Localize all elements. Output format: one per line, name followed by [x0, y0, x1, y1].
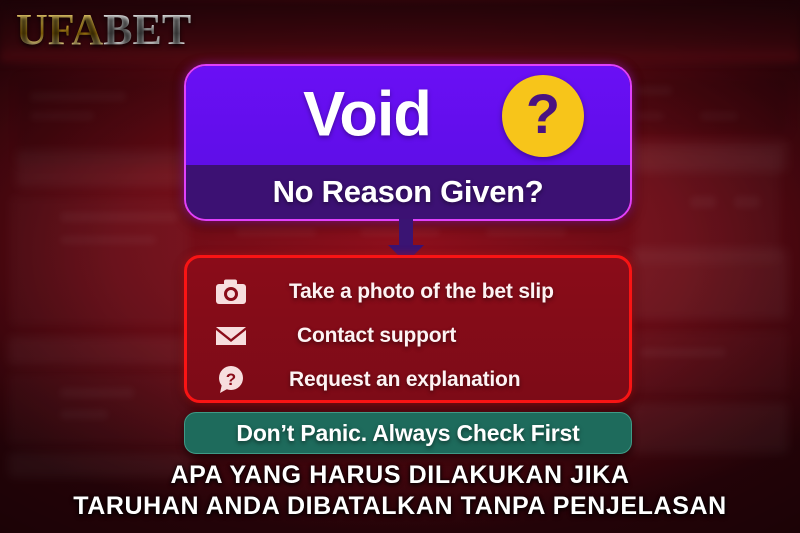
list-item-label: Take a photo of the bet slip: [289, 280, 554, 304]
question-mark-badge-icon: ?: [502, 75, 584, 157]
list-item[interactable]: Take a photo of the bet slip: [187, 270, 629, 314]
caption-line-1: APA YANG HARUS DILAKUKAN JIKA: [0, 460, 800, 491]
list-item-label: Contact support: [297, 324, 456, 348]
question-bubble-icon: ?: [211, 365, 251, 395]
void-card-bottom: No Reason Given?: [186, 165, 630, 219]
list-item[interactable]: ? Request an explanation: [187, 358, 629, 402]
camera-icon: [211, 277, 251, 307]
caption-block: APA YANG HARUS DILAKUKAN JIKA TARUHAN AN…: [0, 460, 800, 522]
void-card: Void ? No Reason Given?: [184, 64, 632, 221]
logo-text-bet: BET: [103, 5, 191, 54]
caption-line-2: TARUHAN ANDA DIBATALKAN TANPA PENJELASAN: [0, 491, 800, 522]
banner-label: Don’t Panic. Always Check First: [236, 420, 579, 447]
ufabet-logo: UFABET: [16, 8, 191, 52]
list-item[interactable]: Contact support: [187, 314, 629, 358]
reassurance-banner: Don’t Panic. Always Check First: [184, 412, 632, 454]
action-list-card: Take a photo of the bet slip Contact sup…: [184, 255, 632, 403]
logo-text-ufa: UFA: [16, 5, 103, 54]
svg-text:?: ?: [226, 370, 236, 389]
question-mark-glyph: ?: [526, 86, 560, 142]
list-item-label: Request an explanation: [289, 368, 520, 392]
envelope-icon: [211, 321, 251, 351]
void-card-top: Void ?: [186, 66, 630, 165]
void-subheadline: No Reason Given?: [273, 174, 544, 210]
